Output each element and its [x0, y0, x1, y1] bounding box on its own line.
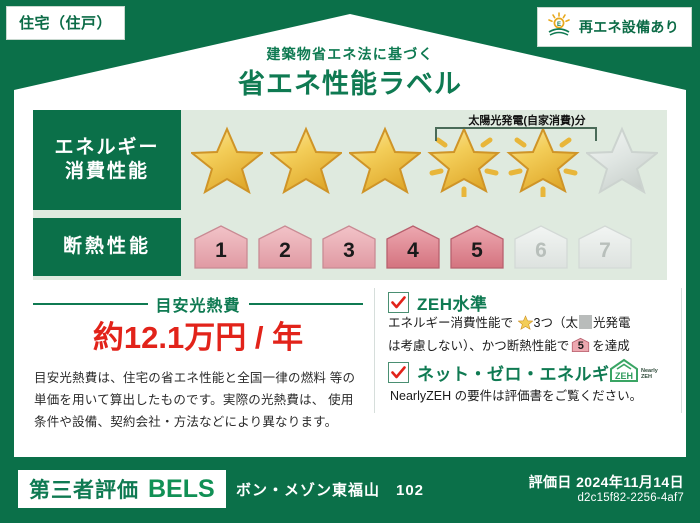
zeh-logo: ZEH Nearly ZEH [608, 358, 678, 384]
solar-annotation-label: 太陽光発電(自家消費)分 [417, 112, 637, 128]
zeh-desc-line2-b: を達成 [592, 339, 630, 353]
dwelling-type-chip: 住宅（住戸） [6, 6, 125, 40]
insulation-grade-value: 1 [191, 223, 251, 271]
insulation-grade-value: 7 [575, 223, 635, 271]
svg-text:ZEH: ZEH [615, 371, 633, 381]
star-icon-inline [518, 315, 533, 336]
page-title: 省エネ性能ラベル [0, 62, 700, 101]
insulation-grade-badge-inactive: 6 [511, 223, 571, 271]
net-zero-energy-row: ネット・ゼロ・エネルギー [388, 360, 627, 385]
insulation-grade-value: 5 [447, 223, 507, 271]
insulation-grade-badge: 3 [319, 223, 379, 271]
insulation-grade-inline-value: 5 [571, 337, 590, 353]
renewable-equipment-label: 再エネ設備あり [579, 17, 679, 37]
insulation-grade-value: 2 [255, 223, 315, 271]
insulation-grade-value: 3 [319, 223, 379, 271]
checkmark-icon [388, 362, 409, 383]
insulation-label: 断熱性能 [63, 235, 151, 259]
evaluation-id: d2c15f82-2256-4af7 [577, 492, 684, 504]
divider-right [249, 303, 364, 305]
column-divider [374, 288, 375, 413]
bels-badge-en-label: BELS [148, 475, 215, 504]
utility-cost-note: 目安光熱費は、住宅の省エネ性能と全国一律の燃料 等の単価を用いて算出したものです… [34, 368, 366, 434]
net-zero-energy-title: ネット・ゼロ・エネルギー [417, 360, 627, 385]
insulation-grade-badge: 2 [255, 223, 315, 271]
energy-performance-label: 住宅（住戸） E 再エネ設備あり 建築物省エネ法に基づく 省エネ性能ラベル [0, 0, 700, 523]
sun-renewable-icon: E [546, 12, 572, 41]
dwelling-type-label: 住宅（住戸） [19, 15, 112, 32]
divider-left [33, 303, 148, 305]
insulation-grade-badge: 1 [191, 223, 251, 271]
bels-certification-badge: 第三者評価 BELS [18, 470, 226, 508]
zeh-desc-line2-a: は考慮しない）、かつ断熱性能で [388, 339, 569, 353]
zeh-desc-star-count: 3つ（太 [534, 316, 578, 330]
insulation-grade-value: 4 [383, 223, 443, 271]
zeh-standard-title: ZEH水準 [417, 290, 488, 315]
energy-label-line1: エネルギー [54, 136, 159, 160]
evaluation-date: 評価日 2024年11月14日 [529, 472, 684, 492]
renewable-equipment-chip: E 再エネ設備あり [537, 7, 692, 47]
utility-cost-note-line1: 目安光熱費は、住宅の省エネ性能と全国一律の燃料 [34, 371, 326, 385]
insulation-grade-badge: 4 [383, 223, 443, 271]
checkmark-icon [388, 292, 409, 313]
building-name: ボン・メゾン東福山 102 [236, 479, 424, 500]
insulation-grade-scale: 1 2 3 4 [181, 223, 667, 271]
insulation-grade-value: 6 [511, 223, 571, 271]
label-subtitle: 建築物省エネ法に基づく [0, 44, 700, 64]
insulation-grade-badge-achieved: 5 [447, 223, 507, 271]
zeh-desc-part1: エネルギー消費性能で [388, 316, 513, 330]
insulation-grade-badge-inactive: 7 [575, 223, 635, 271]
utility-cost-value: 約12.1万円 / 年 [33, 312, 363, 357]
zeh-desc-part2: 光発電 [593, 316, 631, 330]
energy-performance-label-block: エネルギー 消費性能 [33, 110, 181, 210]
insulation-performance-label-block: 断熱性能 [33, 218, 181, 276]
solar-annotation-bracket [435, 127, 597, 141]
star-icon [189, 122, 265, 198]
insulation-performance-row: 断熱性能 [33, 218, 667, 276]
energy-label-line2: 消費性能 [65, 160, 149, 184]
bels-badge-jp-label: 第三者評価 [29, 474, 139, 504]
svg-text:ZEH: ZEH [641, 374, 652, 380]
net-zero-energy-description: NearlyZEH の要件は評価書をご覧ください。 [390, 386, 682, 406]
star-icon [268, 122, 344, 198]
redacted-character [579, 315, 592, 329]
zeh-standard-row: ZEH水準 [388, 290, 488, 315]
insulation-grade-badge-inline: 5 [571, 337, 590, 353]
svg-text:E: E [557, 22, 561, 28]
star-icon [347, 122, 423, 198]
zeh-standard-description: エネルギー消費性能で 3つ（太光発電 は考慮しない）、かつ断熱性能で 5 を達成 [388, 313, 680, 356]
